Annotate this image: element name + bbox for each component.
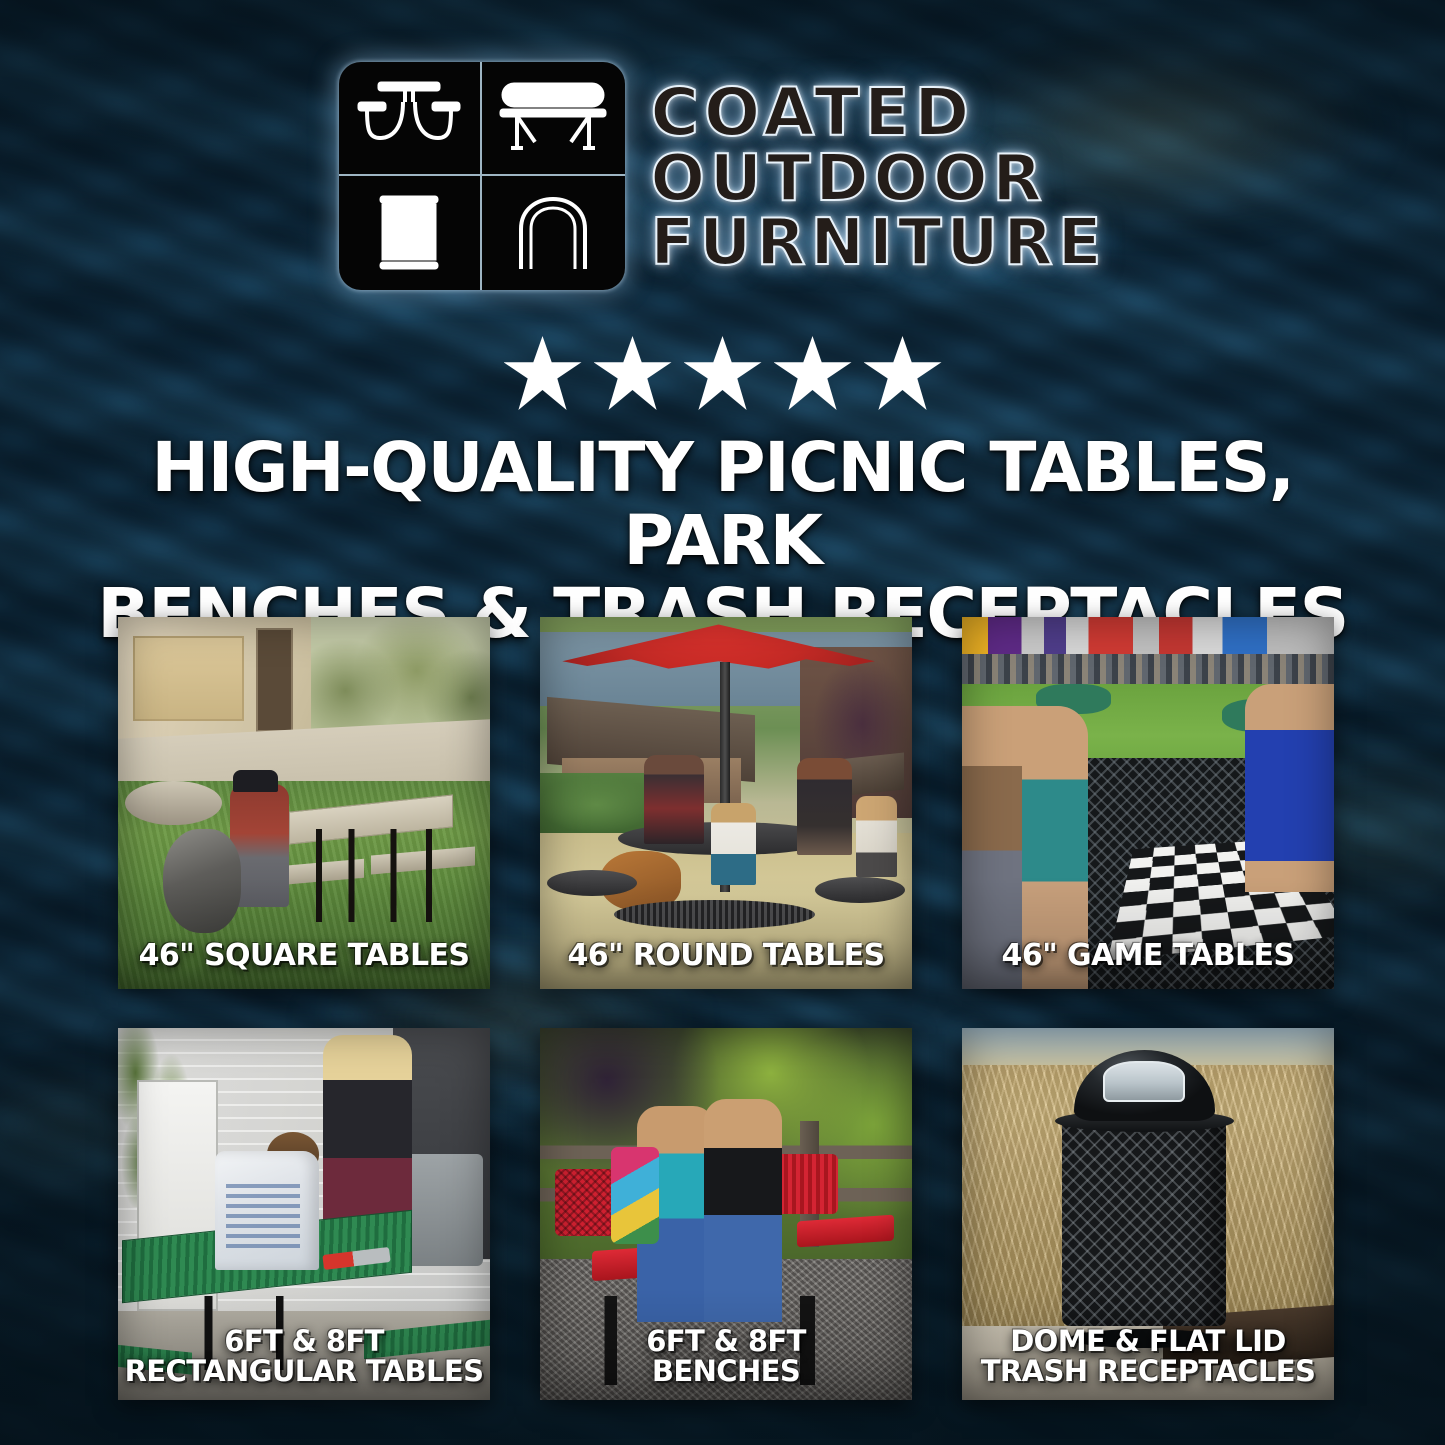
caption-line-1: DOME & FLAT LID	[968, 1326, 1328, 1356]
product-caption: 46" ROUND TABLES	[546, 940, 906, 971]
brand-logo: COATED OUTDOOR FURNITURE	[0, 62, 1445, 290]
bike-rack-arch-icon	[482, 176, 625, 290]
caption-line-1: 6FT & 8FT	[124, 1326, 484, 1356]
picnic-table-side-icon	[482, 62, 625, 176]
star-icon	[504, 336, 582, 410]
caption-line-2: BENCHES	[546, 1356, 906, 1386]
star-icon	[774, 336, 852, 410]
product-caption: 6FT & 8FT BENCHES	[546, 1326, 906, 1386]
star-icon	[594, 336, 672, 410]
product-card-round-tables[interactable]: 46" ROUND TABLES	[540, 617, 912, 989]
trash-receptacle-icon	[339, 176, 482, 290]
product-card-game-tables[interactable]: 46" GAME TABLES	[962, 617, 1334, 989]
caption-line-1: 46" GAME TABLES	[968, 940, 1328, 971]
caption-line-2: TRASH RECEPTACLES	[968, 1356, 1328, 1386]
product-card-trash-receptacles[interactable]: DOME & FLAT LID TRASH RECEPTACLES	[962, 1028, 1334, 1400]
star-rating	[0, 336, 1445, 410]
promotional-poster: COATED OUTDOOR FURNITURE HIGH-QUALITY PI…	[0, 0, 1445, 1445]
star-icon	[864, 336, 942, 410]
product-caption: 46" SQUARE TABLES	[124, 940, 484, 971]
caption-line-1: 46" ROUND TABLES	[546, 940, 906, 971]
logo-mark-grid	[339, 62, 625, 290]
headline-line-1: HIGH-QUALITY PICNIC TABLES, PARK	[60, 432, 1385, 578]
star-icon	[684, 336, 762, 410]
product-card-benches[interactable]: 6FT & 8FT BENCHES	[540, 1028, 912, 1400]
product-caption: 6FT & 8FT RECTANGULAR TABLES	[124, 1326, 484, 1386]
product-grid: 46" SQUARE TABLES 46" ROUND TABLES	[118, 617, 1334, 1400]
product-photo-game-tables	[962, 617, 1334, 989]
caption-line-2: RECTANGULAR TABLES	[124, 1356, 484, 1386]
product-card-square-tables[interactable]: 46" SQUARE TABLES	[118, 617, 490, 989]
product-caption: DOME & FLAT LID TRASH RECEPTACLES	[968, 1326, 1328, 1386]
brand-wordmark: COATED OUTDOOR FURNITURE	[651, 77, 1107, 275]
picnic-table-front-icon	[339, 62, 482, 176]
caption-line-1: 46" SQUARE TABLES	[124, 940, 484, 971]
logo-line-3: FURNITURE	[651, 212, 1107, 275]
product-photo-square-tables	[118, 617, 490, 989]
logo-line-2: OUTDOOR	[651, 148, 1047, 211]
product-card-rectangular-tables[interactable]: 6FT & 8FT RECTANGULAR TABLES	[118, 1028, 490, 1400]
caption-line-1: 6FT & 8FT	[546, 1326, 906, 1356]
logo-line-1: COATED	[651, 81, 975, 146]
product-caption: 46" GAME TABLES	[968, 940, 1328, 971]
product-photo-round-tables	[540, 617, 912, 989]
